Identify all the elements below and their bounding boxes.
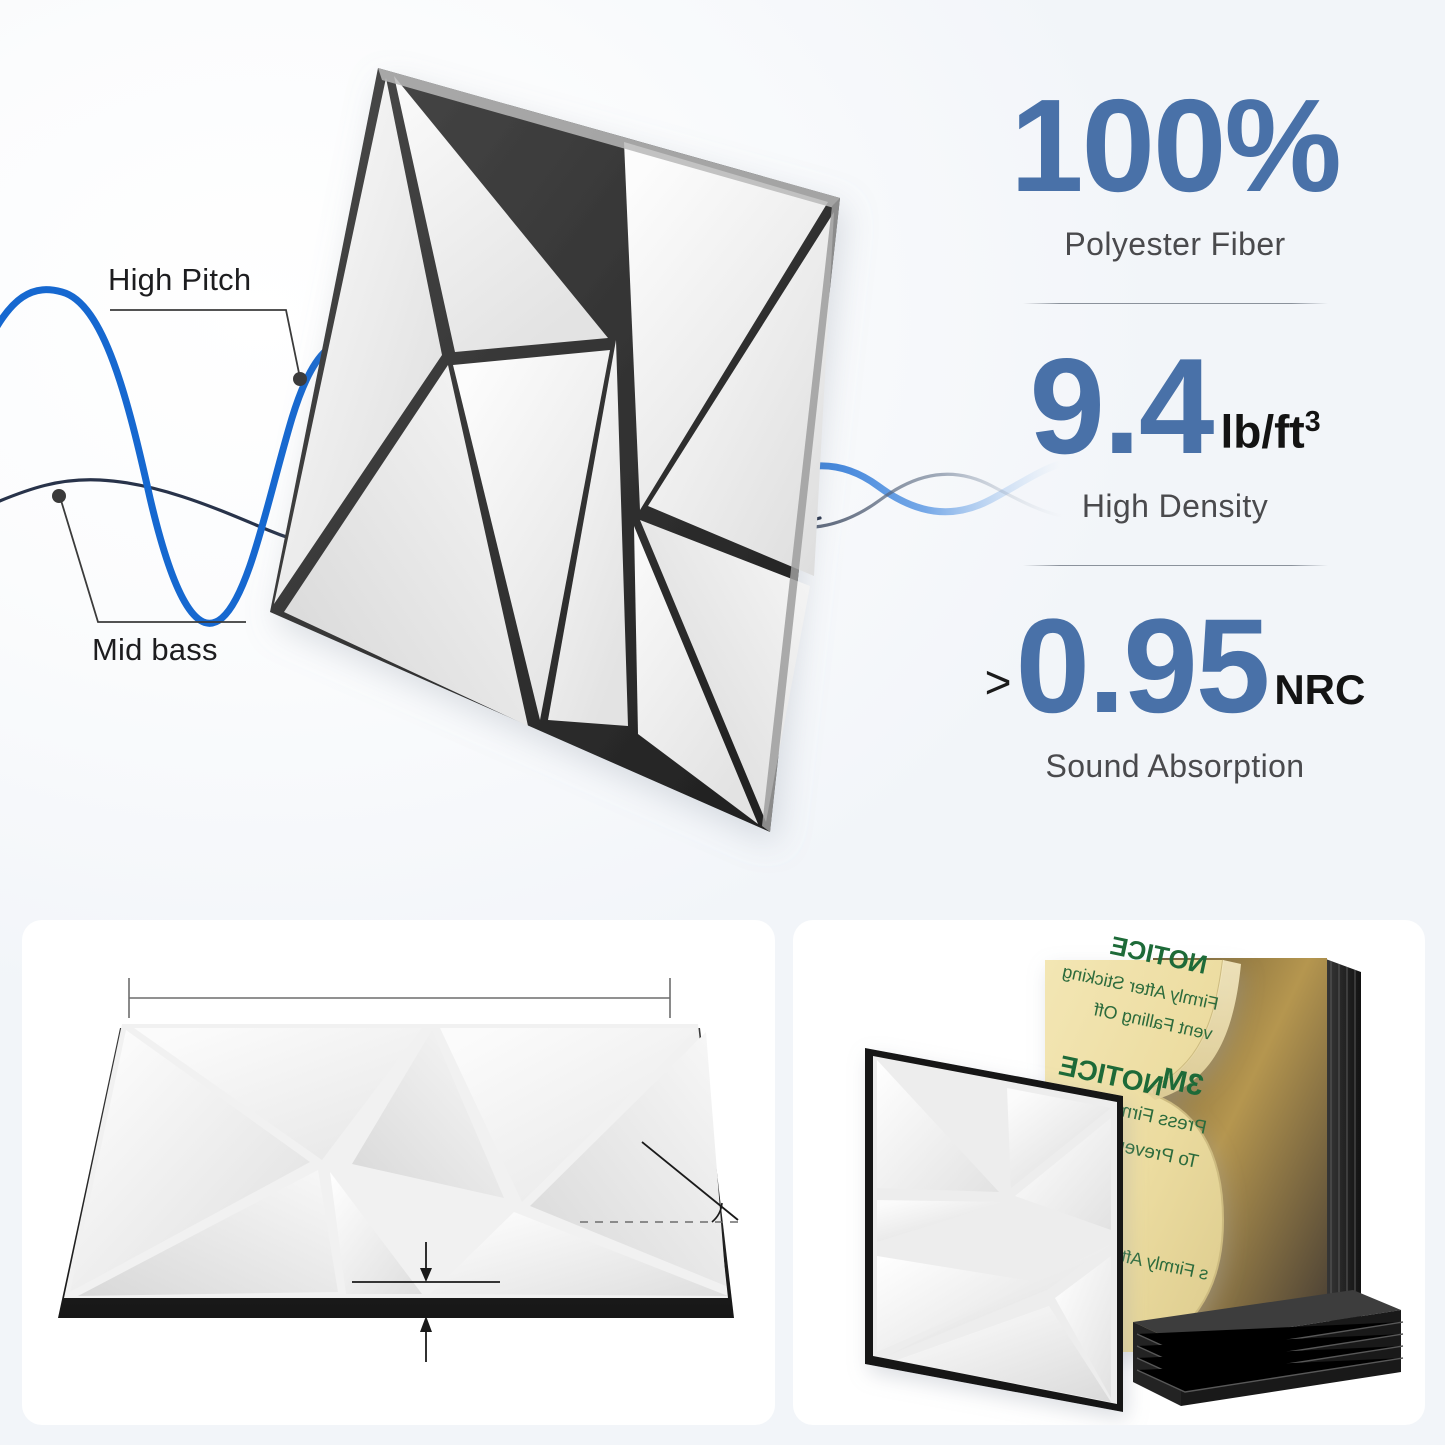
stat-value-row: > 0.95 NRC <box>940 600 1410 734</box>
stat-value-row: 9.4 lb/ft3 <box>940 338 1410 474</box>
acoustic-panel-3d <box>210 20 910 890</box>
stats-column: 100% Polyester Fiber 9.4 lb/ft3 High Den… <box>940 80 1410 785</box>
mid-bass-anchor-dot <box>52 489 66 503</box>
stat-caption: Sound Absorption <box>940 748 1410 785</box>
stat-caption: High Density <box>940 488 1410 525</box>
stat-caption: Polyester Fiber <box>940 226 1410 263</box>
stat-sound-absorption: > 0.95 NRC Sound Absorption <box>940 600 1410 785</box>
stat-unit: NRC <box>1274 669 1365 711</box>
stats-divider-2 <box>1023 565 1328 566</box>
dimensions-card: 12 inch 0.4 inch 45º <box>22 920 775 1425</box>
stat-high-density: 9.4 lb/ft3 High Density <box>940 338 1410 525</box>
pack-card: 3M NOTICE Press Firmly After Sticking To… <box>793 920 1425 1425</box>
infographic-canvas: High Pitch Mid bass <box>0 0 1445 1445</box>
dimensions-diagram <box>22 920 775 1425</box>
stat-value: 9.4 <box>1029 338 1212 474</box>
greater-than-symbol: > <box>985 659 1012 705</box>
stat-unit: lb/ft3 <box>1220 408 1320 454</box>
width-dimension-line <box>129 978 670 1018</box>
front-panel <box>865 1048 1123 1412</box>
stat-value: 0.95 <box>1016 600 1269 734</box>
stat-value: 100% <box>1010 80 1340 212</box>
vertical-board-stack <box>1323 958 1361 1332</box>
mid-bass-label: Mid bass <box>92 632 218 668</box>
pack-illustration: 3M NOTICE Press Firmly After Sticking To… <box>793 920 1425 1425</box>
stats-divider-1 <box>1023 303 1328 304</box>
stat-polyester-fiber: 100% Polyester Fiber <box>940 80 1410 263</box>
stat-value-row: 100% <box>940 80 1410 212</box>
